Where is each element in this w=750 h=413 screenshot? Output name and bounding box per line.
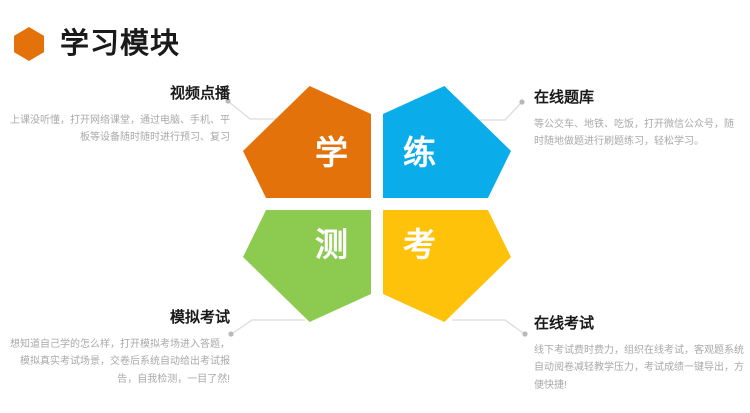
center-diagram: 学 练 测 考: [243, 86, 513, 322]
petal-test-label: 测: [315, 228, 348, 261]
block-mock-exam-body: 想知道自己学的怎么样，打开模拟考场进入答题，模拟真实考试场景，交卷后系统自动给出…: [8, 336, 230, 389]
block-question-bank-body: 等公交车、地铁、吃饭，打开微信公众号，随时随地做题进行刷题练习，轻松学习。: [534, 116, 742, 151]
block-online-exam: 在线考试 线下考试费时费力，组织在线考试，客观题系统自动阅卷减轻教学压力，考试成…: [534, 316, 744, 394]
petal-study-label: 学: [315, 136, 348, 169]
block-video: 视频点播 上课没听懂，打开网络课堂，通过电脑、手机、平板等设备随时随时进行预习、…: [8, 86, 230, 147]
block-video-heading: 视频点播: [8, 86, 230, 103]
block-online-exam-body: 线下考试费时费力，组织在线考试，客观题系统自动阅卷减轻教学压力，考试成绩一键导出…: [534, 342, 744, 395]
page-title-bar: 学习模块: [14, 22, 180, 66]
page-title: 学习模块: [60, 30, 180, 59]
block-video-body: 上课没听懂，打开网络课堂，通过电脑、手机、平板等设备随时随时进行预习、复习: [8, 112, 230, 147]
petal-exam-label: 考: [403, 228, 436, 261]
connector-dot-question-bank: [519, 99, 524, 104]
block-mock-exam: 模拟考试 想知道自己学的怎么样，打开模拟考场进入答题，模拟真实考试场景，交卷后系…: [8, 310, 230, 388]
block-question-bank: 在线题库 等公交车、地铁、吃饭，打开微信公众号，随时随地做题进行刷题练习，轻松学…: [534, 90, 742, 151]
block-mock-exam-heading: 模拟考试: [8, 310, 230, 327]
petal-study[interactable]: [243, 86, 371, 198]
connector-dot-online-exam: [522, 331, 527, 336]
block-online-exam-heading: 在线考试: [534, 316, 744, 333]
block-question-bank-heading: 在线题库: [534, 90, 742, 107]
petal-practice-label: 练: [403, 136, 436, 169]
hexagon-icon: [14, 27, 44, 61]
petal-test[interactable]: [243, 210, 371, 322]
